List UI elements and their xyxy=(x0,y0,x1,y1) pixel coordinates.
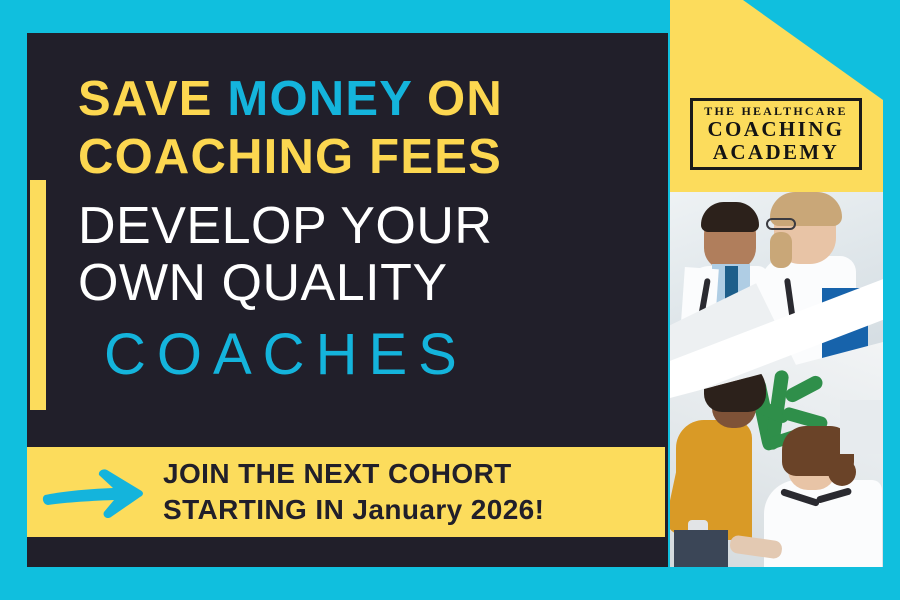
cta-line-2: STARTING IN January 2026! xyxy=(163,492,544,528)
subheadline-block: DEVELOP YOUR OWN QUALITY COACHES xyxy=(78,198,492,390)
headline-on-text: ON xyxy=(412,72,503,126)
logo-line-1: THE HEALTHCARE xyxy=(704,104,847,118)
headline-line-1: SAVE MONEY ON xyxy=(78,70,653,128)
cta-banner[interactable]: JOIN THE NEXT COHORT STARTING IN January… xyxy=(27,447,665,537)
promotional-poster: SAVE MONEY ON COACHING FEES DEVELOP YOUR… xyxy=(0,0,900,600)
cta-starting-text: STARTING IN xyxy=(163,494,352,525)
left-yellow-accent-bar xyxy=(30,180,46,410)
headline-block: SAVE MONEY ON COACHING FEES xyxy=(78,70,653,186)
cta-month-text: January 2026! xyxy=(352,494,544,525)
headline-save-text: SAVE xyxy=(78,72,227,126)
cyan-corner-triangle xyxy=(743,0,883,100)
right-column: THE HEALTHCARE COACHING ACADEMY xyxy=(670,0,883,567)
arrow-right-hand-drawn-icon xyxy=(41,462,149,522)
headline-line-2: COACHING FEES xyxy=(78,128,653,186)
subheadline-line-1: DEVELOP YOUR xyxy=(78,198,492,255)
right-cyan-margin xyxy=(883,0,900,600)
logo-panel: THE HEALTHCARE COACHING ACADEMY xyxy=(670,0,883,192)
photo-stack xyxy=(670,192,883,567)
subheadline-line-2: OWN QUALITY xyxy=(78,255,492,312)
brand-logo: THE HEALTHCARE COACHING ACADEMY xyxy=(690,98,862,170)
subheadline-coaches: COACHES xyxy=(104,320,492,390)
cta-line-1: JOIN THE NEXT COHORT xyxy=(163,456,544,492)
cta-text-block: JOIN THE NEXT COHORT STARTING IN January… xyxy=(163,456,544,528)
logo-line-2: COACHING xyxy=(707,118,844,141)
headline-money-text: MONEY xyxy=(227,72,412,126)
logo-line-3: ACADEMY xyxy=(713,141,839,164)
